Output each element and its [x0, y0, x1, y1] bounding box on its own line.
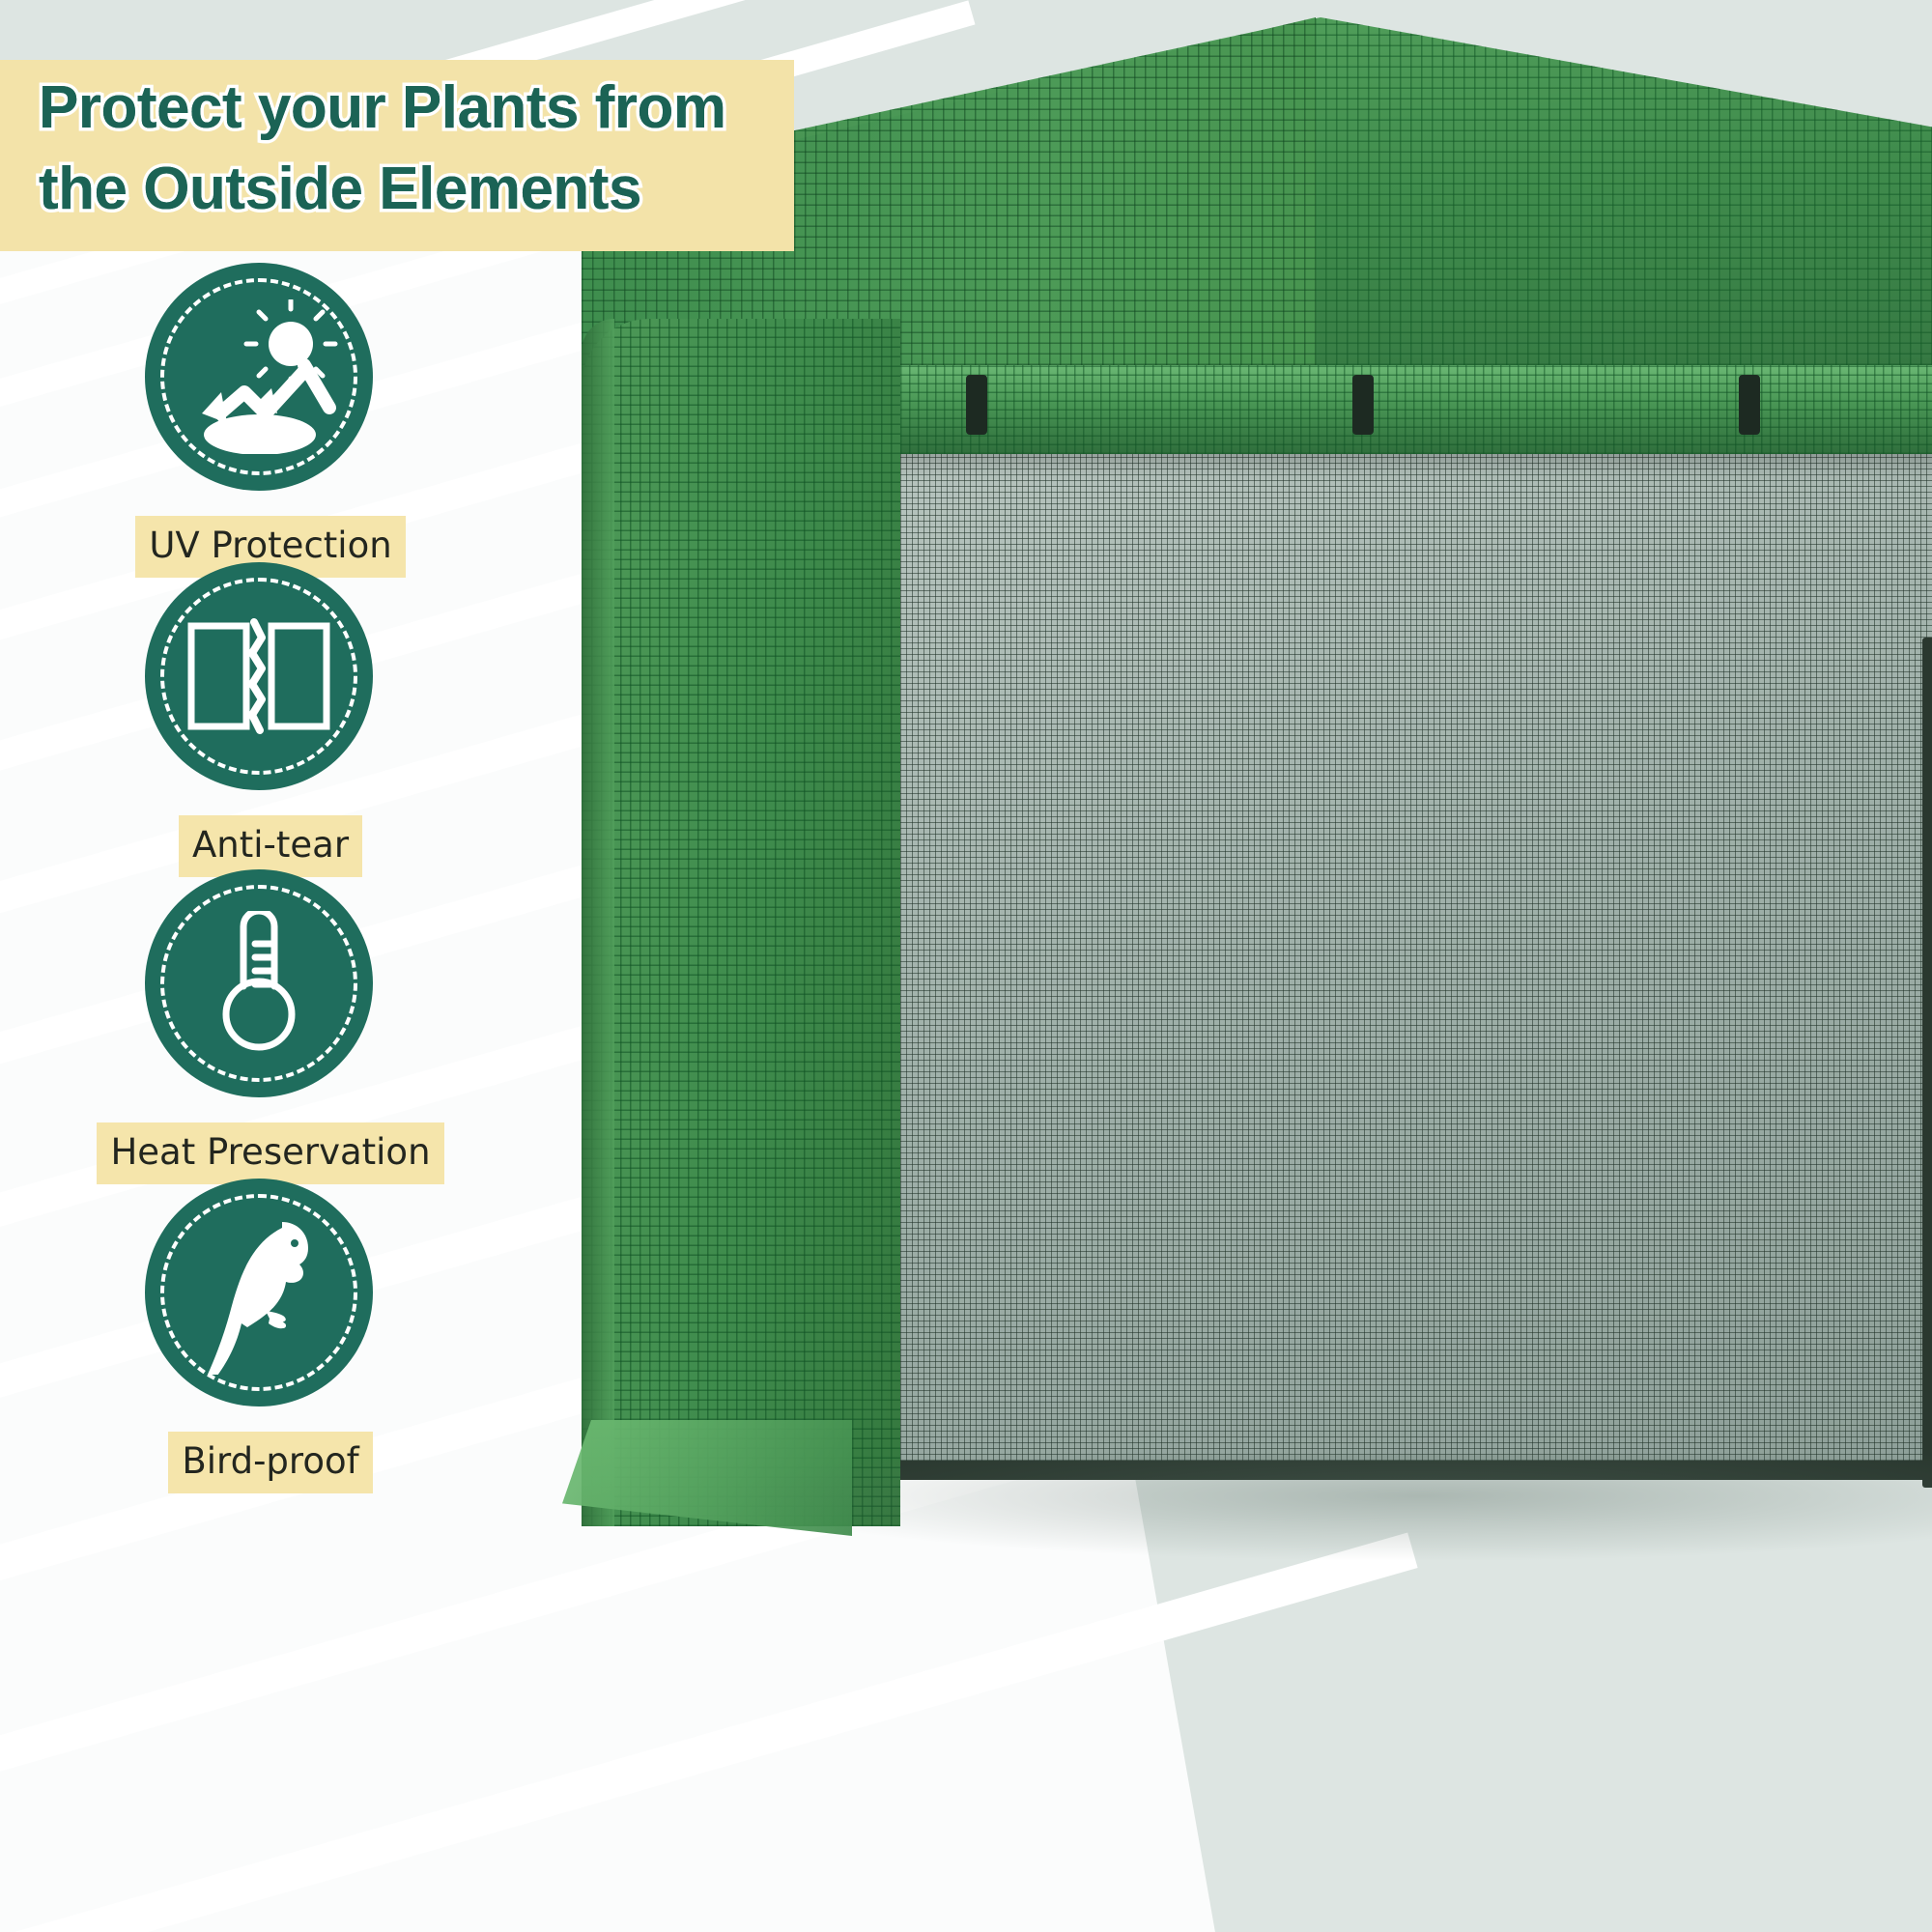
uv-sun-reflect-icon	[145, 263, 373, 491]
canopy-strap-1	[966, 375, 987, 435]
feature-label-heat-preservation: Heat Preservation	[97, 1122, 443, 1184]
poster-canvas: Protect your Plants from the Outside Ele…	[0, 0, 1932, 1932]
headline-banner: Protect your Plants from the Outside Ele…	[0, 60, 794, 251]
canopy-strap-2	[1352, 375, 1374, 435]
feature-label-bird-proof-wrap: Bird-proof	[0, 1432, 541, 1493]
thermometer-icon	[145, 869, 373, 1097]
torn-fabric-icon	[145, 562, 373, 790]
feature-list: UV Protection Anti-tear	[0, 253, 541, 1895]
feature-label-anti-tear-wrap: Anti-tear	[0, 815, 541, 877]
greenhouse-mesh-wall	[773, 415, 1932, 1478]
canopy-strap-3	[1739, 375, 1760, 435]
uv-glyph	[145, 263, 373, 491]
feature-label-anti-tear: Anti-tear	[179, 815, 362, 877]
product-photo-greenhouse	[454, 0, 1932, 1932]
headline-line-2: the Outside Elements	[39, 156, 641, 222]
frame-beam-door-top	[1922, 638, 1932, 1488]
page-title: Protect your Plants from the Outside Ele…	[39, 68, 802, 230]
anti-tear-glyph	[145, 562, 373, 790]
thermometer-glyph	[145, 869, 373, 1097]
greenhouse-front-cover	[582, 319, 900, 1526]
bird-glyph	[145, 1179, 373, 1406]
feature-label-bird-proof: Bird-proof	[168, 1432, 372, 1493]
bird-icon	[145, 1179, 373, 1406]
greenhouse-front-edge	[582, 319, 614, 1526]
feature-label-heat-preservation-wrap: Heat Preservation	[0, 1122, 541, 1184]
headline-line-1: Protect your Plants from	[39, 74, 725, 141]
greenhouse-ground-shadow	[744, 1454, 1932, 1560]
